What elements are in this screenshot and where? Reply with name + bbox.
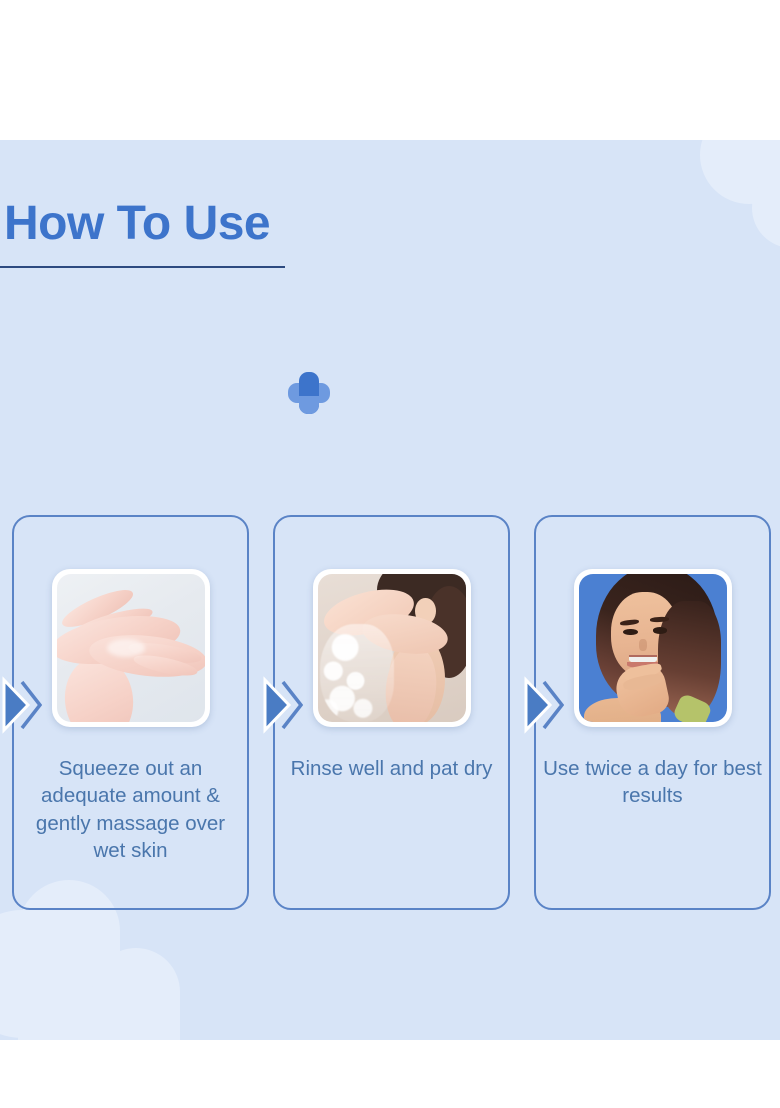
step-2-caption: Rinse well and pat dry [281, 755, 502, 782]
step-card-3: Use twice a day for best results [534, 515, 771, 910]
chevron-right-icon-step-2 [263, 674, 303, 736]
cloud-decoration-bottom-left-a [0, 910, 86, 1038]
chevron-right-icon-step-1 [2, 674, 42, 736]
cloud-decoration-top-right-a [700, 140, 780, 204]
hands-with-product-image [57, 574, 205, 722]
rinsing-face-with-water-image [318, 574, 466, 722]
chevron-right-icon-step-3 [524, 674, 564, 736]
cloud-decoration-bottom-left-c [92, 948, 180, 1040]
plus-vertical-lower-bar [299, 396, 319, 414]
page-title: How To Use [0, 200, 340, 248]
step-card-1: Squeeze out an adequate amount & gently … [12, 515, 249, 910]
section-header: How To Use [0, 200, 340, 268]
step-card-2: Rinse well and pat dry [273, 515, 510, 910]
step-2-thumbnail-frame [313, 569, 471, 727]
plus-cross-icon [288, 372, 330, 414]
step-1-caption: Squeeze out an adequate amount & gently … [20, 755, 241, 865]
how-to-use-infographic: How To Use [0, 0, 780, 1108]
smiling-woman-portrait-image [579, 574, 727, 722]
steps-row: Squeeze out an adequate amount & gently … [0, 515, 780, 910]
step-1-thumbnail-frame [52, 569, 210, 727]
step-3-caption: Use twice a day for best results [542, 755, 763, 810]
step-3-thumbnail-frame [574, 569, 732, 727]
cloud-decoration-top-right-b [752, 168, 780, 248]
title-underline-rule [0, 266, 285, 268]
blue-panel: How To Use [0, 140, 780, 1040]
